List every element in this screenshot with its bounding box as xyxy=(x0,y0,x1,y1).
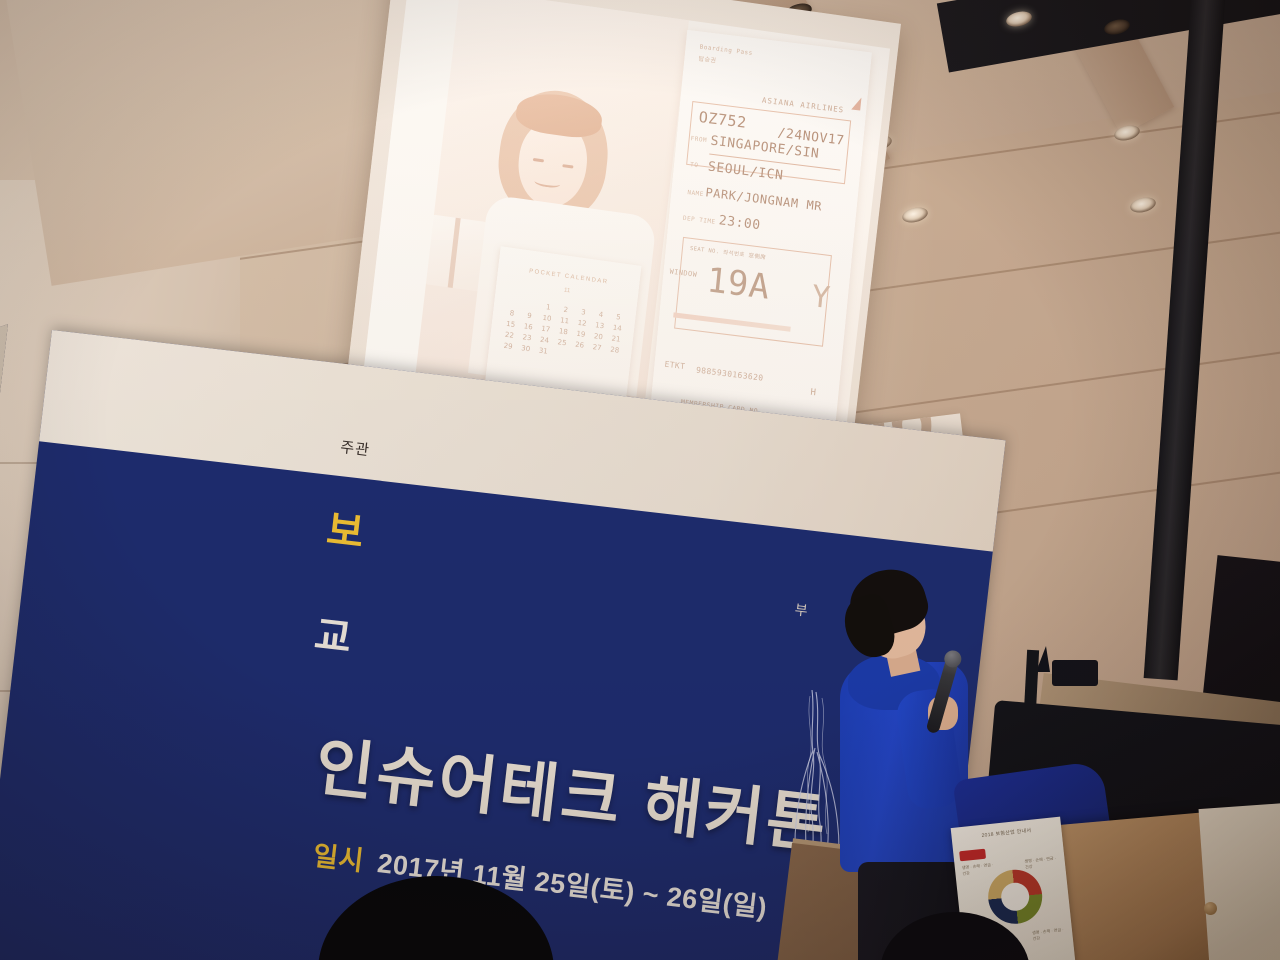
calendar-day: 4 xyxy=(592,310,610,320)
calendar-day: 12 xyxy=(573,318,591,328)
banner-subline-2: 교 xyxy=(312,602,357,664)
calendar-day: 9 xyxy=(520,311,538,321)
calendar-grid: 1234589101112131415161718192021222324252… xyxy=(499,297,628,366)
bp-to-label: TO xyxy=(690,161,699,169)
calendar-day: 29 xyxy=(499,341,517,351)
calendar-day: 15 xyxy=(501,319,519,329)
calendar-day: 17 xyxy=(537,324,555,334)
asiana-logo-icon xyxy=(851,97,861,111)
banner-subline-1: 보 xyxy=(324,497,369,559)
banner-organizer-label: 주관 xyxy=(339,436,371,460)
calendar-day: 1 xyxy=(539,302,557,312)
flyer-text-block: 생명 · 손해 · 연금 · 건강 xyxy=(1032,927,1067,942)
bp-etkt-suffix: H xyxy=(810,388,817,399)
bp-etkt-label: ETKT xyxy=(664,360,686,372)
calendar-day xyxy=(504,297,522,307)
calendar-day: 16 xyxy=(519,322,537,332)
flyer-text-block: 생명 · 손해 · 연금 · 건강 xyxy=(962,862,997,877)
calendar-day: 18 xyxy=(554,327,572,337)
calendar-day: 27 xyxy=(588,342,606,352)
calendar-day: 31 xyxy=(534,346,552,356)
bp-etkt-value: 9885930163620 xyxy=(696,366,764,383)
calendar-day: 22 xyxy=(500,330,518,340)
calendar-day: 30 xyxy=(516,344,534,354)
pie-center xyxy=(1000,881,1031,912)
calendar-day: 20 xyxy=(589,332,607,342)
bp-dep-label: DEP TIME xyxy=(683,215,716,226)
av-device xyxy=(1052,660,1098,686)
flyer-text-block: 생명 · 손해 · 연금 · 건강 xyxy=(1024,855,1059,870)
bp-class-code: Y xyxy=(810,279,832,316)
bp-dep-value: 23:00 xyxy=(718,213,761,233)
bp-name-value: PARK/JONGNAM MR xyxy=(705,185,823,213)
flyer-red-tag xyxy=(959,849,986,862)
calendar-day: 28 xyxy=(605,345,623,355)
calendar-day: 14 xyxy=(608,323,626,333)
cardboard-box-flap xyxy=(1199,803,1280,960)
bp-header-ko: 탑승권 xyxy=(698,53,717,64)
calendar-day: 5 xyxy=(609,312,627,322)
calendar-day: 25 xyxy=(553,338,571,348)
banner-organizer-label-right: 부 xyxy=(794,599,810,620)
calendar-day: 21 xyxy=(607,334,625,344)
calendar-day: 24 xyxy=(535,335,553,345)
calendar-day xyxy=(522,300,540,310)
calendar-day: 3 xyxy=(574,307,592,317)
calendar-day: 13 xyxy=(590,321,608,331)
flyer-pie-chart xyxy=(986,867,1045,926)
conference-hall-scene: 08:05 POCKET CALENDAR 11 123458 xyxy=(0,0,1280,960)
calendar-day: 23 xyxy=(518,333,536,343)
calendar-day: 19 xyxy=(572,329,590,339)
bp-name-label: NAME xyxy=(687,189,704,198)
calendar-day: 8 xyxy=(503,308,521,318)
banner-date-label: 일시 xyxy=(312,841,366,877)
calendar-day: 10 xyxy=(538,313,556,323)
calendar-day: 26 xyxy=(570,340,588,350)
calendar-day: 2 xyxy=(557,305,575,315)
calendar-day: 11 xyxy=(555,316,573,326)
flyer-header: 2018 보험산업 안내서 xyxy=(957,824,1056,844)
box-rivet xyxy=(1204,902,1217,915)
bp-seat-value: 19A xyxy=(705,260,772,308)
